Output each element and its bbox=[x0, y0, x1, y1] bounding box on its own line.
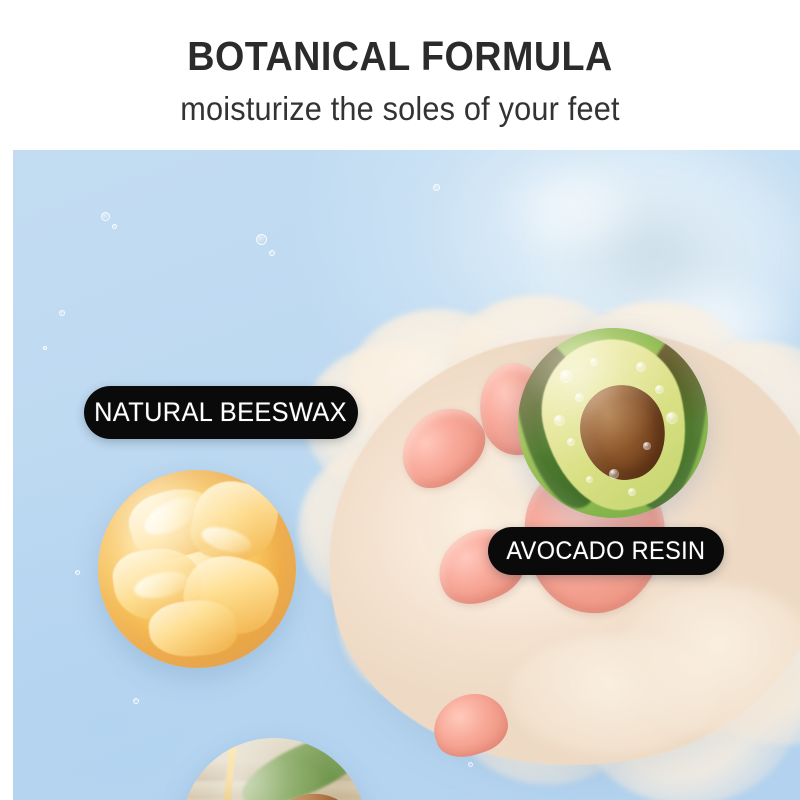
ingredient-label-beeswax[interactable]: NATURAL BEESWAX bbox=[84, 386, 358, 439]
ice-cloud-icon bbox=[550, 180, 760, 330]
ingredient-sphere-beeswax bbox=[98, 470, 296, 668]
bubble-icon bbox=[112, 224, 117, 229]
ingredient-label-avocado[interactable]: AVOCADO RESIN bbox=[488, 527, 724, 575]
bubble-icon bbox=[59, 310, 65, 316]
page-subtitle: moisturize the soles of your feet bbox=[28, 90, 772, 128]
ingredient-label-beeswax-text: NATURAL BEESWAX bbox=[95, 397, 348, 428]
ingredient-sphere-avocado bbox=[518, 328, 708, 518]
bubble-icon bbox=[256, 234, 267, 245]
ingredient-label-avocado-text: AVOCADO RESIN bbox=[506, 537, 705, 566]
product-marketing-image: BOTANICAL FORMULA moisturize the soles o… bbox=[0, 0, 800, 800]
bubble-icon bbox=[75, 570, 80, 575]
bubble-icon bbox=[433, 184, 440, 191]
bubble-icon bbox=[43, 346, 47, 350]
bubble-icon bbox=[101, 212, 110, 221]
bubble-icon bbox=[133, 698, 139, 704]
ingredient-sphere-jojoba bbox=[181, 738, 367, 800]
product-photo: NATURAL BEESWAX AVOCADO RESIN JOJOBA SEE… bbox=[13, 150, 800, 800]
header-banner: BOTANICAL FORMULA moisturize the soles o… bbox=[0, 0, 800, 150]
ice-cloud-icon bbox=[490, 152, 650, 262]
bubble-icon bbox=[269, 250, 275, 256]
page-title: BOTANICAL FORMULA bbox=[32, 33, 768, 80]
